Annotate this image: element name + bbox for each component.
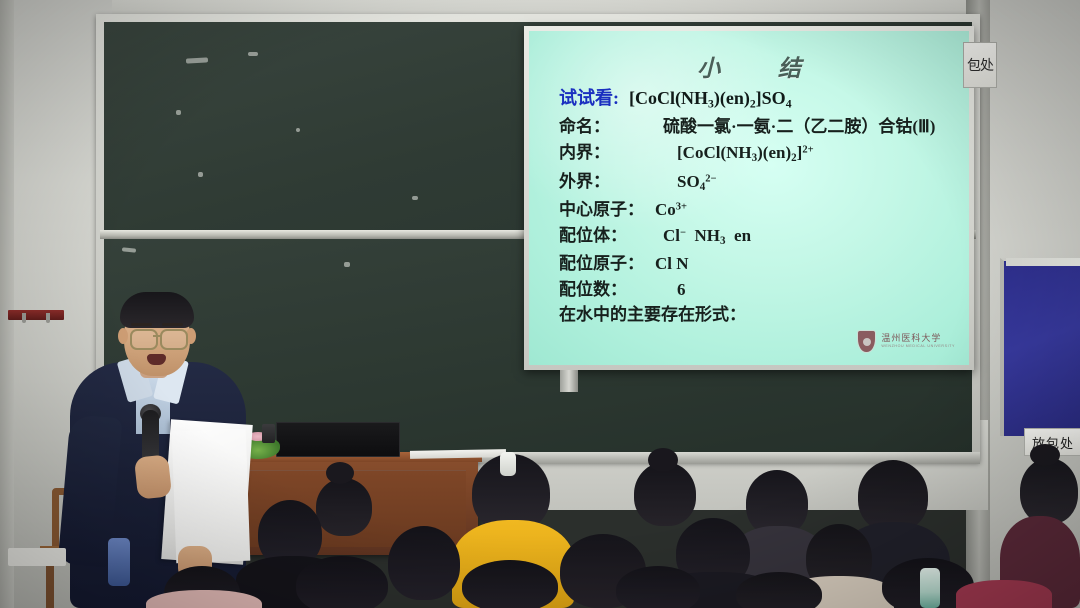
chalk-mark bbox=[296, 128, 300, 132]
student-pink-top bbox=[146, 590, 262, 608]
slide-line-ligand: 配位体： Cl− NH3 en bbox=[559, 227, 957, 247]
student-head bbox=[296, 556, 388, 608]
slide-line-try: 试试看: [CoCl(NH3)(en)2]SO4 bbox=[559, 89, 957, 110]
student-head bbox=[388, 526, 460, 600]
slide-line-coord-number-value: 6 bbox=[677, 281, 686, 298]
slide-line-inner: 内界： [CoCl(NH3)(en)2]2+ bbox=[559, 144, 957, 164]
student-head bbox=[462, 560, 558, 608]
wall-sign-top: 包处 bbox=[963, 42, 997, 88]
student-head bbox=[616, 566, 700, 608]
slide-line-water-form: 在水中的主要存在形式： bbox=[559, 306, 957, 323]
slide-line-ligand-value: Cl− NH3 en bbox=[663, 227, 751, 247]
slide-line-ligand-label: 配位体： bbox=[559, 227, 641, 244]
slide-line-center-atom-label: 中心原子： bbox=[559, 201, 655, 218]
chalk-mark bbox=[198, 172, 203, 177]
slide-line-outer-label: 外界： bbox=[559, 173, 641, 190]
coat-hook-icon bbox=[46, 313, 50, 323]
student-head bbox=[1020, 458, 1078, 524]
chalk-mark bbox=[412, 196, 418, 200]
slide-line-center-atom-value: Co3+ bbox=[655, 201, 687, 218]
student-head bbox=[316, 478, 372, 536]
slide-line-name: 命名： 硫酸一氯·一氨·二（乙二胺）合钴(Ⅲ) bbox=[559, 118, 957, 135]
chalk-mark bbox=[176, 110, 181, 115]
slide-line-donor-atom-label: 配位原子： bbox=[559, 255, 655, 272]
bulletin-board bbox=[1000, 258, 1080, 436]
student-red-top bbox=[956, 580, 1052, 608]
presenter-ear-left bbox=[118, 328, 128, 344]
chalk-mark bbox=[248, 52, 258, 56]
slide-line-try-label: 试试看: bbox=[559, 89, 619, 107]
slide-heading: 小 结 bbox=[529, 49, 969, 83]
student-hair-bun bbox=[1030, 444, 1060, 466]
slide-line-outer: 外界： SO42− bbox=[559, 173, 957, 193]
slide-line-try-value: [CoCl(NH3)(en)2]SO4 bbox=[629, 89, 792, 110]
slide-line-name-label: 命名： bbox=[559, 118, 641, 135]
desk-papers bbox=[8, 548, 66, 566]
projection-screen-frame: 小 结 试试看: [CoCl(NH3)(en)2]SO4 命名： 硫酸一氯·一氨… bbox=[524, 26, 974, 370]
slide-line-donor-atom-value: Cl N bbox=[655, 255, 689, 272]
lecture-hall-screenshot: 小 结 试试看: [CoCl(NH3)(en)2]SO4 命名： 硫酸一氯·一氨… bbox=[0, 0, 1080, 608]
coat-hook-icon bbox=[22, 313, 26, 323]
presenter-eyebrow-left bbox=[131, 323, 152, 326]
coat-hook-rail bbox=[8, 310, 64, 320]
chalk-mark bbox=[344, 262, 350, 267]
presenter-eyebrow-right bbox=[162, 323, 183, 326]
glasses-icon bbox=[130, 329, 158, 350]
slide-line-coord-number: 配位数： 6 bbox=[559, 281, 957, 298]
student-hair-bun bbox=[648, 448, 678, 472]
shield-icon bbox=[857, 330, 876, 353]
water-bottle bbox=[108, 538, 130, 586]
university-logo: 温州医科大学 WENZHOU MEDICAL UNIVERSITY bbox=[857, 330, 955, 353]
slide-line-outer-value: SO42− bbox=[677, 173, 717, 193]
water-bottle bbox=[500, 452, 516, 476]
slide-line-center-atom: 中心原子： Co3+ bbox=[559, 201, 957, 218]
bulletin-board-header bbox=[1006, 258, 1080, 266]
slide-line-name-value: 硫酸一氯·一氨·二（乙二胺）合钴(Ⅲ) bbox=[663, 118, 935, 135]
water-bottle bbox=[920, 568, 940, 608]
slide-body: 试试看: [CoCl(NH3)(en)2]SO4 命名： 硫酸一氯·一氨·二（乙… bbox=[559, 89, 957, 332]
university-name-cn: 温州医科大学 bbox=[881, 334, 955, 343]
glasses-bridge bbox=[153, 335, 161, 337]
university-logo-text: 温州医科大学 WENZHOU MEDICAL UNIVERSITY bbox=[881, 334, 955, 349]
slide-line-inner-label: 内界： bbox=[559, 144, 641, 161]
slide-line-donor-atom: 配位原子： Cl N bbox=[559, 255, 957, 272]
glasses-icon bbox=[160, 329, 188, 350]
projection-screen: 小 结 试试看: [CoCl(NH3)(en)2]SO4 命名： 硫酸一氯·一氨… bbox=[529, 31, 969, 365]
university-name-en: WENZHOU MEDICAL UNIVERSITY bbox=[881, 345, 955, 349]
slide-line-coord-number-label: 配位数： bbox=[559, 281, 641, 298]
presenter-mouth bbox=[147, 354, 166, 365]
student-hair-bun bbox=[326, 462, 354, 484]
slide-line-water-form-label: 在水中的主要存在形式： bbox=[559, 306, 746, 323]
audience bbox=[0, 440, 1080, 608]
student-head bbox=[736, 572, 822, 608]
screen-mount-bracket bbox=[560, 370, 578, 392]
slide-line-inner-value: [CoCl(NH3)(en)2]2+ bbox=[677, 144, 814, 164]
